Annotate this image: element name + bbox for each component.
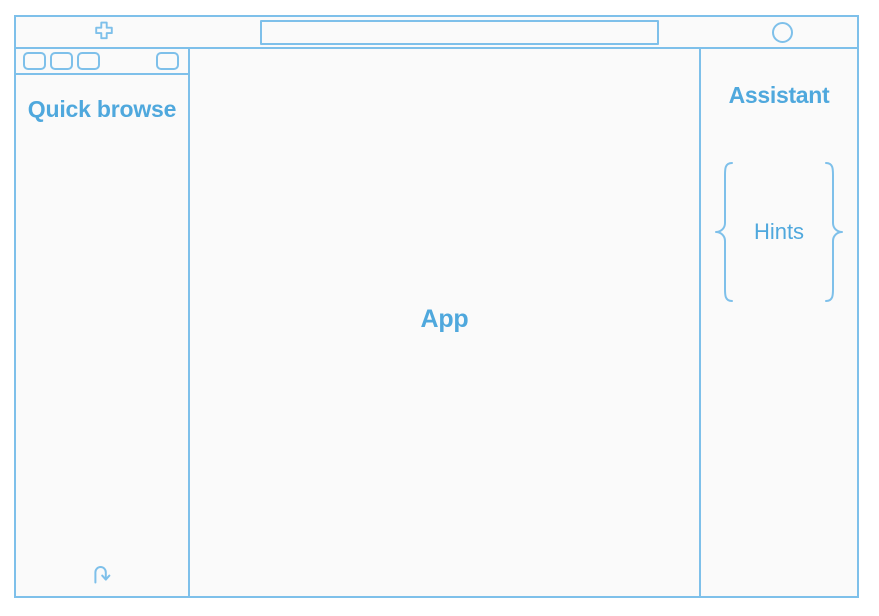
sidebar-footer bbox=[16, 561, 188, 587]
panes-container: Quick browse App Assistant bbox=[16, 49, 857, 596]
browser-chrome-bar bbox=[16, 17, 857, 49]
omnibox-zone bbox=[192, 17, 707, 47]
search-input[interactable] bbox=[260, 20, 659, 45]
hints-block: Hints bbox=[714, 161, 844, 303]
sidebar-tool-1-button[interactable] bbox=[23, 52, 46, 70]
app-label: App bbox=[421, 305, 469, 334]
sidebar-tool-4-button[interactable] bbox=[156, 52, 179, 70]
sidebar-title: Quick browse bbox=[28, 95, 176, 124]
u-turn-arrow-icon[interactable] bbox=[89, 561, 115, 587]
sidebar: Quick browse bbox=[16, 49, 190, 596]
plus-icon[interactable] bbox=[93, 21, 115, 43]
sidebar-body: Quick browse bbox=[16, 75, 188, 596]
circle-avatar-icon[interactable] bbox=[772, 22, 793, 43]
sidebar-tool-3-button[interactable] bbox=[77, 52, 100, 70]
left-curly-brace-icon bbox=[714, 161, 736, 303]
hints-label: Hints bbox=[754, 219, 804, 245]
profile-zone bbox=[707, 17, 857, 47]
tab-strip bbox=[16, 17, 192, 47]
sidebar-tool-2-button[interactable] bbox=[50, 52, 73, 70]
sidebar-toolbar bbox=[16, 49, 188, 75]
assistant-panel: Assistant Hints bbox=[701, 49, 857, 596]
app-content-pane: App bbox=[190, 49, 701, 596]
right-curly-brace-icon bbox=[822, 161, 844, 303]
assistant-title: Assistant bbox=[729, 82, 830, 109]
wireframe-window: Quick browse App Assistant bbox=[14, 15, 859, 598]
